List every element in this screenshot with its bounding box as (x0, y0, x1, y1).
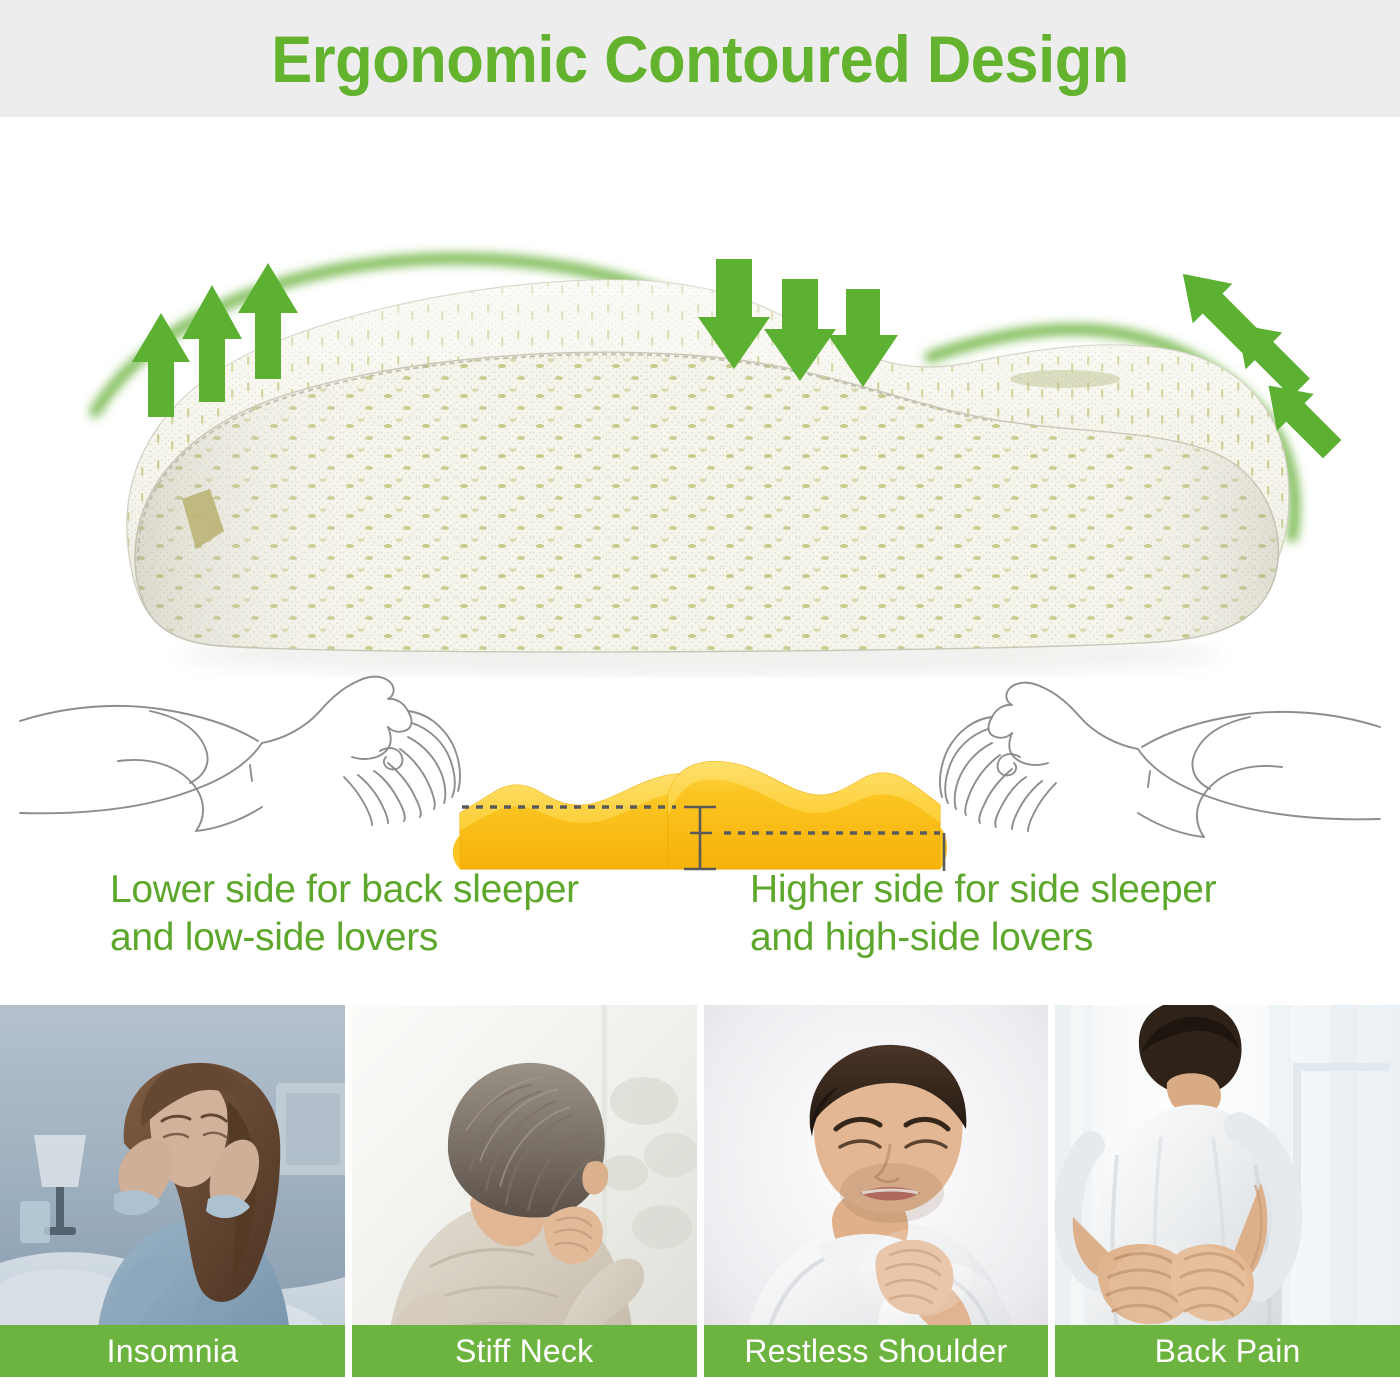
caption-higher-line2: and high-side lovers (750, 914, 1400, 962)
symptom-label-back-pain: Back Pain (1055, 1325, 1400, 1377)
page-title: Ergonomic Contoured Design (271, 26, 1128, 92)
man-shoulder-pain-photo (704, 1005, 1049, 1377)
side-sleeper-pillow (668, 762, 947, 869)
caption-lower-side: Lower side for back sleeper and low-side… (0, 862, 700, 992)
sleeper-comparison-diagram (0, 665, 1400, 880)
caption-higher-line1: Higher side for side sleeper (750, 866, 1400, 914)
symptom-tile-restless-shoulder[interactable]: Restless Shoulder (704, 1005, 1049, 1377)
symptom-tile-stiff-neck[interactable]: Stiff Neck (352, 1005, 697, 1377)
caption-lower-line1: Lower side for back sleeper (110, 866, 700, 914)
captions-row: Lower side for back sleeper and low-side… (0, 862, 1400, 992)
pillow-edge-highlight (1010, 370, 1120, 388)
symptom-tile-back-pain[interactable]: Back Pain (1055, 1005, 1400, 1377)
symptom-tile-insomnia[interactable]: Insomnia (0, 1005, 345, 1377)
symptom-label-insomnia: Insomnia (0, 1325, 345, 1377)
woman-insomnia-photo (0, 1005, 345, 1377)
caption-higher-side: Higher side for side sleeper and high-si… (700, 862, 1400, 992)
pillow-illustration (0, 117, 1400, 677)
symptom-label-stiff-neck: Stiff Neck (352, 1325, 697, 1377)
caption-lower-line2: and low-side lovers (110, 914, 700, 962)
hero-product-section (0, 117, 1400, 677)
side-sleeper-diagram (940, 683, 1380, 837)
sleeper-diagrams-section (0, 665, 1400, 880)
symptom-label-restless-shoulder: Restless Shoulder (704, 1325, 1049, 1377)
symptom-photo-strip: Insomnia (0, 1005, 1400, 1377)
man-stiff-neck-photo (352, 1005, 697, 1377)
back-sleeper-diagram (20, 677, 460, 831)
man-back-pain-photo (1055, 1005, 1400, 1377)
header-banner: Ergonomic Contoured Design (0, 0, 1400, 117)
